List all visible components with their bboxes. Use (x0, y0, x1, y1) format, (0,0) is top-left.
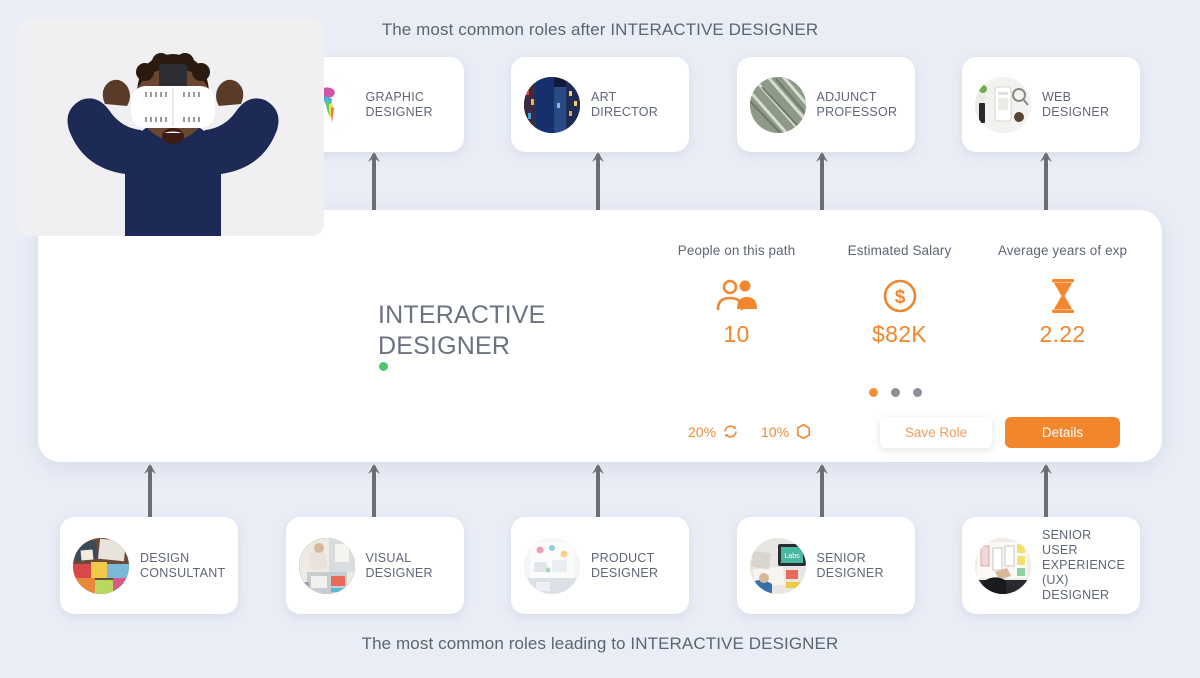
visual-designer-thumb-icon (299, 538, 355, 594)
svg-text:$: $ (894, 287, 905, 308)
role-label: SENIOR DESIGNER (817, 551, 884, 581)
refresh-cycle-icon (722, 423, 739, 440)
percent-chips-group: 20% 10% (688, 423, 812, 440)
carousel-dot-2[interactable] (891, 388, 900, 397)
role-card-design-consultant[interactable]: DESIGN CONSULTANT (60, 517, 238, 614)
connector-arrow-up-4 (815, 152, 829, 210)
role-card-adjunct-professor-next[interactable]: ADJUNCT PROFESSOR (737, 57, 915, 152)
percent-value: 10% (761, 424, 789, 440)
role-card-product-designer-prior[interactable]: PRODUCT DESIGNER (511, 517, 689, 614)
senior-ux-designer-thumb-icon (975, 538, 1031, 594)
dollar-circle-icon: $ (818, 273, 981, 319)
connector-arrow-up-5 (1039, 152, 1053, 210)
stat-label: Average years of exp (981, 243, 1144, 258)
role-label: ADJUNCT PROFESSOR (817, 90, 898, 120)
stat-label: People on this path (655, 243, 818, 258)
page-title-bottom: The most common roles leading to INTERAC… (0, 634, 1200, 654)
percent-chip-hexagon[interactable]: 10% (761, 423, 812, 440)
stat-average-years-exp: Average years of exp 2.22 (981, 243, 1144, 348)
connector-arrow-up-10 (1039, 464, 1053, 518)
carousel-dot-3[interactable] (913, 388, 922, 397)
connector-arrow-up-7 (367, 464, 381, 518)
role-card-senior-ux-designer[interactable]: SENIOR USER EXPERIENCE (UX) DESIGNER (962, 517, 1140, 614)
senior-designer-thumb-icon: Labs (750, 538, 806, 594)
percent-value: 20% (688, 424, 716, 440)
carousel-dots[interactable] (869, 388, 922, 397)
web-designer-thumb-icon (975, 77, 1031, 133)
stat-label: Estimated Salary (818, 243, 981, 258)
hero-image-vr-headset (17, 18, 324, 236)
prior-roles-row: DESIGN CONSULTANT VISUAL DESIGNER PRODUC… (60, 517, 1140, 614)
percent-chip-refresh[interactable]: 20% (688, 423, 739, 440)
design-consultant-thumb-icon (73, 538, 129, 594)
role-label: ART DIRECTOR (591, 90, 658, 120)
hexagon-outline-icon (795, 423, 812, 440)
stat-value: 10 (655, 321, 818, 348)
status-indicator-dot (379, 362, 388, 371)
save-role-button[interactable]: Save Role (880, 417, 992, 448)
adjunct-professor-thumb-icon (750, 77, 806, 133)
svg-text:Labs: Labs (784, 553, 800, 560)
role-label: VISUAL DESIGNER (366, 551, 433, 581)
connector-arrow-up-8 (591, 464, 605, 518)
role-label: GRAPHIC DESIGNER (366, 90, 433, 120)
connector-arrow-up-6 (143, 464, 157, 518)
stat-value: $82K (818, 321, 981, 348)
role-card-visual-designer[interactable]: VISUAL DESIGNER (286, 517, 464, 614)
stats-group: People on this path 10 Estimated Salary … (655, 243, 1145, 348)
role-label: WEB DESIGNER (1042, 90, 1109, 120)
role-label: PRODUCT DESIGNER (591, 551, 658, 581)
connector-arrow-up-2 (367, 152, 381, 210)
art-director-thumb-icon (524, 77, 580, 133)
connector-arrow-up-3 (591, 152, 605, 210)
details-button[interactable]: Details (1005, 417, 1120, 448)
role-card-web-designer-next[interactable]: WEB DESIGNER (962, 57, 1140, 152)
role-label: SENIOR USER EXPERIENCE (UX) DESIGNER (1042, 528, 1130, 603)
connector-arrow-up-9 (815, 464, 829, 518)
role-label: DESIGN CONSULTANT (140, 551, 225, 581)
hourglass-icon (981, 273, 1144, 319)
role-card-senior-designer[interactable]: Labs SENIOR DESIGNER (737, 517, 915, 614)
product-designer-thumb-icon (524, 538, 580, 594)
main-role-title: INTERACTIVE DESIGNER (378, 300, 546, 362)
stat-value: 2.22 (981, 321, 1144, 348)
stat-estimated-salary: Estimated Salary $ $82K (818, 243, 981, 348)
stat-people-on-path: People on this path 10 (655, 243, 818, 348)
carousel-dot-1[interactable] (869, 388, 878, 397)
people-icon (655, 273, 818, 319)
role-card-art-director-next[interactable]: ART DIRECTOR (511, 57, 689, 152)
